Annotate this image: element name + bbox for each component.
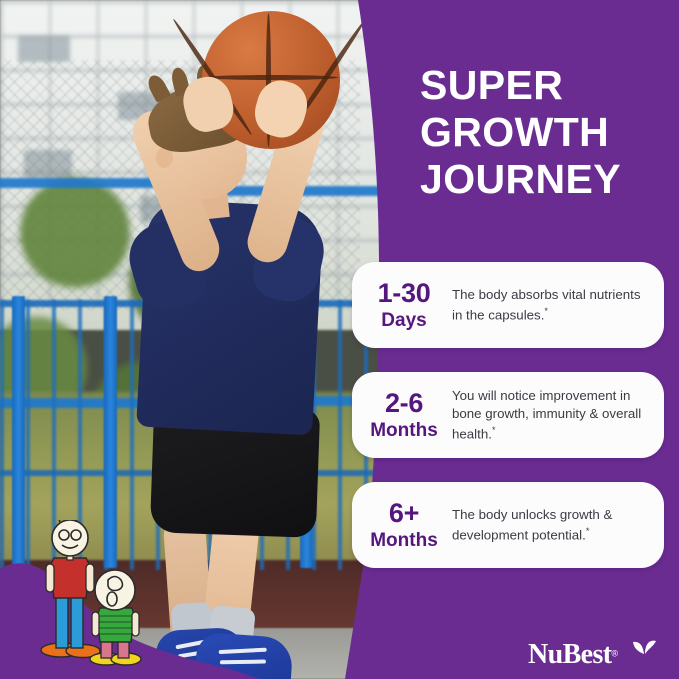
tall-cartoon-kid [41,520,100,658]
footnote-mark: * [492,425,496,435]
duration-value: 2-6 [356,390,452,417]
card-description: The body absorbs vital nutrients in the … [452,287,640,323]
title-line-3: JOURNEY [420,156,670,203]
registered-trademark: ® [612,649,619,659]
sprout-leaf-icon [631,637,657,657]
card-description: You will notice improvement in bone grow… [452,388,641,441]
duration-value: 1-30 [356,280,452,307]
cartoon-kids-doodle [26,520,156,679]
title-line-2: GROWTH [420,109,670,156]
timeline-card-list: 1-30 Days The body absorbs vital nutrien… [352,262,664,568]
footnote-mark: * [544,306,548,316]
duration-unit: Months [356,531,452,550]
duration-block: 6+ Months [352,500,452,550]
duration-block: 1-30 Days [352,280,452,330]
page-title: SUPER GROWTH JOURNEY [420,62,670,203]
footnote-mark: * [586,526,590,536]
title-line-1: SUPER [420,62,670,109]
card-description-wrap: The body absorbs vital nutrients in the … [452,286,664,324]
card-description: The body unlocks growth & development po… [452,507,612,543]
brand-name: NuBest [528,639,612,670]
brand-logo: NuBest® [528,638,668,672]
duration-block: 2-6 Months [352,390,452,440]
duration-value: 6+ [356,500,452,527]
card-description-wrap: You will notice improvement in bone grow… [452,387,664,443]
timeline-card: 2-6 Months You will notice improvement i… [352,372,664,458]
duration-unit: Days [356,311,452,330]
fence-post [12,296,25,568]
duration-unit: Months [356,421,452,440]
timeline-card: 6+ Months The body unlocks growth & deve… [352,482,664,568]
timeline-card: 1-30 Days The body absorbs vital nutrien… [352,262,664,348]
card-description-wrap: The body unlocks growth & development po… [452,506,664,544]
promo-poster: SUPER GROWTH JOURNEY 1-30 Days The body … [0,0,679,679]
